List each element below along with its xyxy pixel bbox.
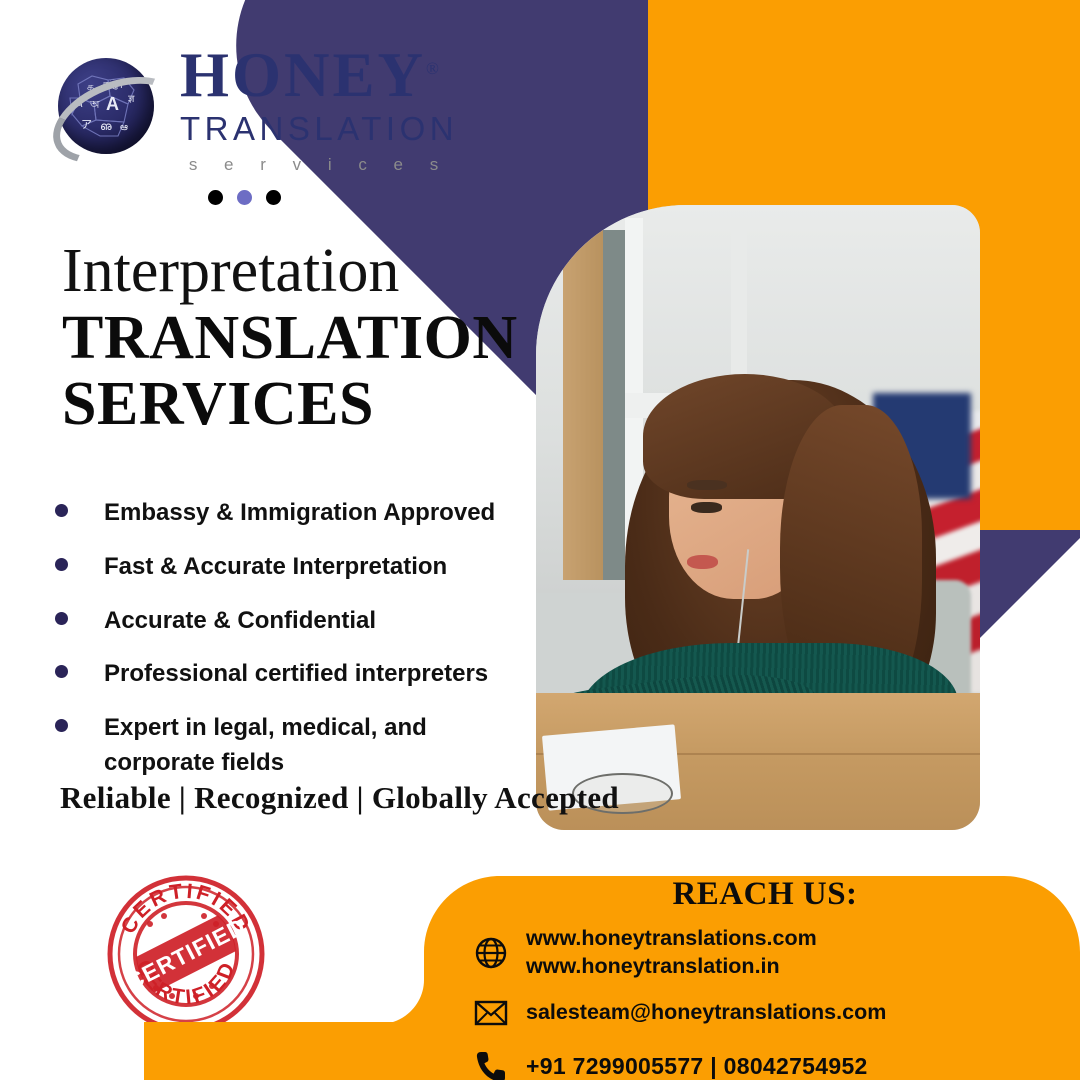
- list-item: Accurate & Confidential: [55, 604, 525, 639]
- photo-eyebrow: [687, 480, 727, 490]
- list-item: Fast & Accurate Interpretation: [55, 550, 525, 585]
- hero-photo-inner: [536, 205, 980, 830]
- photo-lips: [687, 555, 718, 569]
- list-item-label: Expert in legal, medical, and corporate …: [104, 711, 525, 781]
- bullet-icon: [55, 665, 68, 678]
- headline-script: Interpretation: [62, 236, 399, 307]
- photo-eye: [691, 502, 722, 513]
- headline-bold: TRANSLATION SERVICES: [62, 305, 518, 438]
- list-item: Expert in legal, medical, and corporate …: [55, 711, 525, 781]
- poster-canvas: க தુ । ચ অ A ज्ञ ア ഌ ఆ HONEY® TRANSLATIO…: [0, 0, 1080, 1080]
- list-item-label: Embassy & Immigration Approved: [104, 496, 495, 531]
- globe-languages-icon: க தુ । ચ অ A ज्ञ ア ഌ ఆ: [50, 52, 168, 170]
- logo-honey-text: HONEY®: [180, 46, 458, 106]
- hero-photo: [536, 205, 980, 830]
- logo-services-label: s e r v i c e s: [180, 155, 458, 175]
- bullet-icon: [55, 719, 68, 732]
- dot-3: [266, 190, 281, 205]
- headline-bold-line2: SERVICES: [62, 371, 518, 437]
- tagline: Reliable | Recognized | Globally Accepte…: [60, 780, 619, 816]
- phone-values[interactable]: +91 7299005577 | 08042754952: [526, 1052, 868, 1080]
- website-secondary[interactable]: www.honeytranslation.in: [526, 953, 817, 981]
- logo-honey-label: HONEY: [180, 40, 426, 110]
- certified-stamp-icon: CERTIFIED CERTIFIED CERTIFIED: [104, 872, 268, 1036]
- email-row[interactable]: salesteam@honeytranslations.com: [470, 992, 1030, 1034]
- phone-row[interactable]: +91 7299005577 | 08042754952: [470, 1046, 1030, 1080]
- phone-icon: [470, 1046, 512, 1080]
- website-row[interactable]: www.honeytranslations.com www.honeytrans…: [470, 925, 1030, 980]
- headline-bold-line1: TRANSLATION: [62, 305, 518, 371]
- list-item: Professional certified interpreters: [55, 657, 525, 692]
- feature-list: Embassy & Immigration Approved Fast & Ac…: [55, 496, 525, 800]
- globe-icon: [470, 932, 512, 974]
- bullet-icon: [55, 612, 68, 625]
- website-primary[interactable]: www.honeytranslations.com: [526, 925, 817, 953]
- list-item-label: Fast & Accurate Interpretation: [104, 550, 447, 585]
- logo-translation-label: TRANSLATION: [180, 108, 458, 149]
- envelope-icon: [470, 992, 512, 1034]
- registered-mark: ®: [426, 59, 442, 78]
- bullet-icon: [55, 558, 68, 571]
- photo-shelf-wood: [563, 230, 603, 580]
- website-values: www.honeytranslations.com www.honeytrans…: [526, 925, 817, 980]
- email-value[interactable]: salesteam@honeytranslations.com: [526, 999, 886, 1027]
- brand-logo: க தુ । ચ অ A ज्ञ ア ഌ ఆ HONEY® TRANSLATIO…: [50, 46, 458, 175]
- logo-wordmark: HONEY® TRANSLATION s e r v i c e s: [180, 46, 458, 175]
- bullet-icon: [55, 504, 68, 517]
- dot-1: [208, 190, 223, 205]
- list-item-label: Professional certified interpreters: [104, 657, 488, 692]
- decorative-dots: [208, 190, 281, 205]
- list-item-label: Accurate & Confidential: [104, 604, 376, 639]
- list-item: Embassy & Immigration Approved: [55, 496, 525, 531]
- contact-title: REACH US:: [500, 876, 1030, 913]
- contact-block: REACH US: www.honeytranslations.com www.…: [470, 876, 1030, 1080]
- dot-2: [237, 190, 252, 205]
- photo-shelf-dark: [603, 230, 625, 580]
